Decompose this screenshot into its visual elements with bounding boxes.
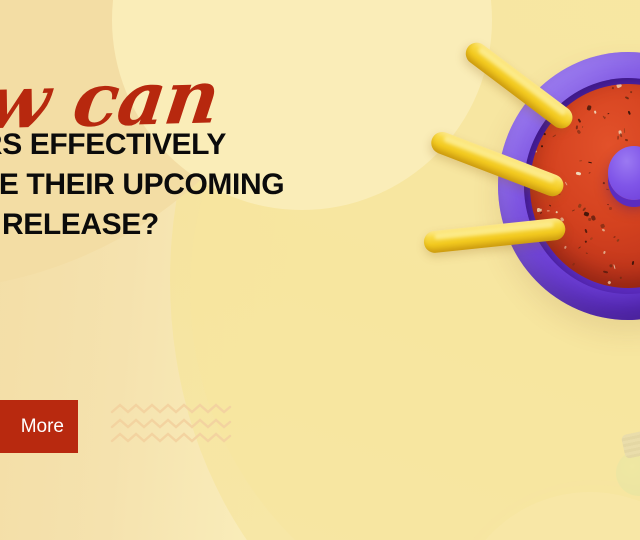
headline-block: ORS EFFECTIVELY OTE THEIR UPCOMING RELEA… (0, 126, 428, 244)
chevron-zigzag-pattern (110, 403, 232, 443)
disc-speckle (564, 246, 567, 249)
disc-speckle (575, 125, 578, 129)
read-more-button[interactable]: More (0, 400, 78, 453)
disc-speckle (623, 128, 624, 133)
disc-speckle (607, 281, 611, 285)
disc-speckle (620, 277, 622, 280)
disc-speckle (540, 145, 543, 147)
disc-speckle (594, 110, 596, 113)
disc-speckle (584, 212, 589, 217)
disc-speckle (601, 228, 604, 231)
disc-speckle (624, 139, 627, 142)
disc-speckle (590, 237, 593, 240)
disc-speckle (609, 207, 612, 210)
disc-speckle (547, 210, 550, 211)
disc-speckle (601, 223, 606, 228)
disc-speckle (616, 84, 622, 89)
disc-speckle (576, 93, 580, 97)
lightbulb-icon (612, 432, 640, 494)
disc-speckle (602, 182, 604, 184)
headline-line-2: OTE THEIR UPCOMING (0, 166, 428, 204)
disc-speckle (579, 160, 582, 162)
disc-speckle (606, 188, 609, 190)
disc-speckle (564, 181, 567, 185)
disc-speckle (611, 86, 613, 88)
disc-speckle (616, 239, 620, 243)
headline-line-1: ORS EFFECTIVELY (0, 126, 428, 164)
disc-speckle (586, 252, 589, 254)
disc-speckle (579, 119, 582, 123)
disc-speckle (543, 132, 547, 135)
disc-speckle (578, 246, 581, 249)
disc-speckle (572, 262, 576, 266)
disc-speckle (628, 111, 632, 115)
disc-speckle (539, 212, 541, 214)
disc-speckle (576, 171, 581, 175)
disc-speckle (618, 136, 619, 140)
disc-speckle (630, 91, 633, 94)
disc-speckle (587, 218, 591, 222)
disc-speckle (603, 270, 608, 273)
disc-speckle (619, 133, 622, 137)
disc-speckle (588, 172, 590, 174)
disc-speckle (572, 209, 575, 211)
disc-speckle (577, 129, 582, 134)
disc-speckle (613, 264, 615, 269)
disc-speckle (586, 105, 591, 111)
disc-speckle (584, 228, 587, 232)
headline-line-3: RELEASE? (0, 206, 428, 244)
disc-speckle (591, 215, 596, 221)
disc-speckle (577, 204, 581, 208)
disc-speckle (607, 113, 610, 115)
banner-canvas: ow can ORS EFFECTIVELY OTE THEIR UPCOMIN… (0, 0, 640, 540)
disc-speckle (581, 126, 583, 129)
disc-speckle (588, 161, 592, 163)
disc-speckle (631, 260, 634, 264)
disc-speckle (586, 241, 588, 244)
disc-speckle (624, 96, 629, 100)
disc-speckle (553, 134, 557, 137)
disc-speckle (576, 91, 580, 93)
disc-speckle (549, 205, 551, 207)
disc-speckle (602, 250, 605, 253)
disc-speckle (607, 204, 609, 206)
disc-speckle (555, 211, 557, 213)
disc-speckle (613, 236, 615, 237)
disc-speckle (608, 264, 612, 268)
